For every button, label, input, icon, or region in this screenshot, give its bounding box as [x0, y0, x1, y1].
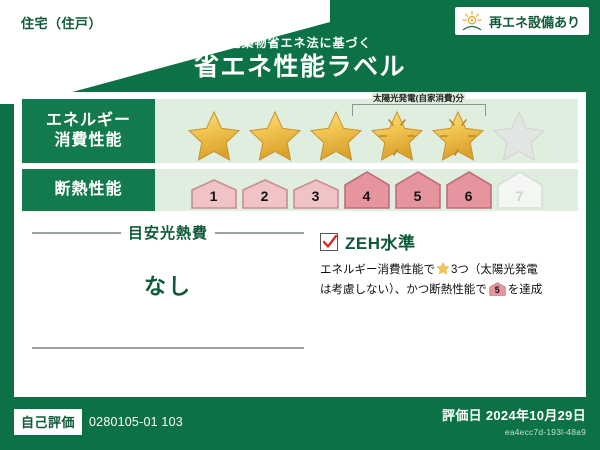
lower-section: 目安光熱費 なし ZEH水準 エネルギー消費性能で3つ（太陽光発電は考慮しな: [14, 217, 586, 377]
insulation-badge-3-number: 3: [292, 188, 340, 204]
star-filled-icon: [246, 108, 304, 162]
insulation-badge-4-number: 4: [343, 188, 391, 204]
utility-cost-title: 目安光熱費: [128, 222, 208, 243]
insulation-badge-7: 7: [496, 171, 544, 209]
label-card: エネルギー 消費性能: [14, 92, 586, 397]
insulation-badge-4: 4: [343, 171, 391, 209]
utility-cost-block: 目安光熱費 なし: [24, 217, 312, 377]
title-main: 省エネ性能ラベル: [0, 53, 600, 82]
insulation-badge-5-number: 5: [394, 188, 442, 204]
insulation-badge-6: 6: [445, 171, 493, 209]
energy-performance-value: 太陽光発電(自家消費)分: [155, 99, 578, 163]
insulation-badge-1-number: 1: [190, 188, 238, 204]
house-type-chip: 住宅（住戸）: [12, 9, 111, 37]
zeh-description: エネルギー消費性能で3つ（太陽光発電は考慮しない）、かつ断熱性能で5を達成: [320, 261, 576, 300]
star-6-empty: [490, 108, 548, 162]
utility-cost-value: なし: [24, 269, 312, 301]
insulation-performance-value: 1 2 3: [155, 169, 578, 211]
star-filled-icon: [185, 108, 243, 162]
energy-label-root: 住宅（住戸） 再エネ設備あり 建築物省エネ法に基づく 省エネ性能ラベル エネルギ…: [0, 0, 600, 450]
star-rating: [155, 99, 578, 163]
self-evaluation-chip: 自己評価: [14, 409, 82, 435]
cost-rule-right: [215, 232, 304, 234]
renewable-badge-label: 再エネ設備あり: [489, 12, 580, 31]
footer-left-group: 自己評価 0280105-01 103: [14, 409, 183, 435]
insulation-performance-key: 断熱性能: [22, 169, 155, 211]
insulation-performance-row: 断熱性能 1 2: [22, 169, 578, 211]
cost-bottom-rule: [32, 347, 304, 349]
cost-rule-left: [32, 232, 121, 234]
insulation-badge-1: 1: [190, 179, 238, 209]
energy-performance-row: エネルギー 消費性能: [22, 92, 578, 163]
insulation-badge-6-number: 6: [445, 188, 493, 204]
utility-cost-heading: 目安光熱費: [24, 217, 312, 243]
zeh-heading: ZEH水準: [320, 229, 576, 254]
insulation-badge-7-number: 7: [496, 188, 544, 204]
zeh-desc-part3: を達成: [508, 284, 543, 296]
zeh-block: ZEH水準 エネルギー消費性能で3つ（太陽光発電は考慮しない）、かつ断熱性能で5…: [312, 217, 576, 377]
zeh-title: ZEH水準: [345, 229, 416, 254]
zeh-checkbox[interactable]: [320, 233, 338, 251]
zeh-desc-part1: エネルギー消費性能で: [320, 264, 435, 276]
label-footer: 自己評価 0280105-01 103 評価日 2024年10月29日 ea4e…: [0, 397, 600, 450]
star-1: [185, 108, 243, 162]
star-5-solar: [429, 108, 487, 162]
star-empty-icon: [490, 108, 548, 162]
insulation-badge-5: 5: [394, 171, 442, 209]
evaluation-date: 評価日 2024年10月29日: [442, 405, 586, 424]
energy-performance-key: エネルギー 消費性能: [22, 99, 155, 163]
insulation-badge-2-number: 2: [241, 188, 289, 204]
evaluation-uuid: ea4ecc7d-193l-48a9: [442, 427, 586, 437]
title-block: 建築物省エネ法に基づく 省エネ性能ラベル: [0, 34, 600, 82]
inline-house-number: 5: [489, 284, 506, 296]
zeh-desc-star-count: 3つ（太陽光発電: [451, 264, 538, 276]
insulation-badge-3: 3: [292, 179, 340, 209]
sun-icon: [460, 10, 484, 32]
energy-key-line2: 消費性能: [54, 131, 122, 151]
renewable-equipment-badge: 再エネ設備あり: [454, 6, 590, 36]
energy-key-line1: エネルギー: [46, 111, 131, 131]
inline-house-badge: 5: [489, 282, 506, 296]
star-filled-solar-icon: [368, 108, 426, 162]
star-2: [246, 108, 304, 162]
insulation-badge-2: 2: [241, 179, 289, 209]
star-3: [307, 108, 365, 162]
check-icon: [322, 234, 338, 250]
star-filled-solar-icon: [429, 108, 487, 162]
evaluation-code: 0280105-01 103: [89, 415, 183, 429]
zeh-desc-part2: は考慮しない）、かつ断熱性能で: [320, 284, 487, 296]
star-filled-icon: [307, 108, 365, 162]
inline-star-icon: [436, 261, 450, 282]
star-4-solar: [368, 108, 426, 162]
insulation-level-scale: 1 2 3: [155, 169, 578, 211]
footer-right-group: 評価日 2024年10月29日 ea4ecc7d-193l-48a9: [442, 405, 586, 437]
